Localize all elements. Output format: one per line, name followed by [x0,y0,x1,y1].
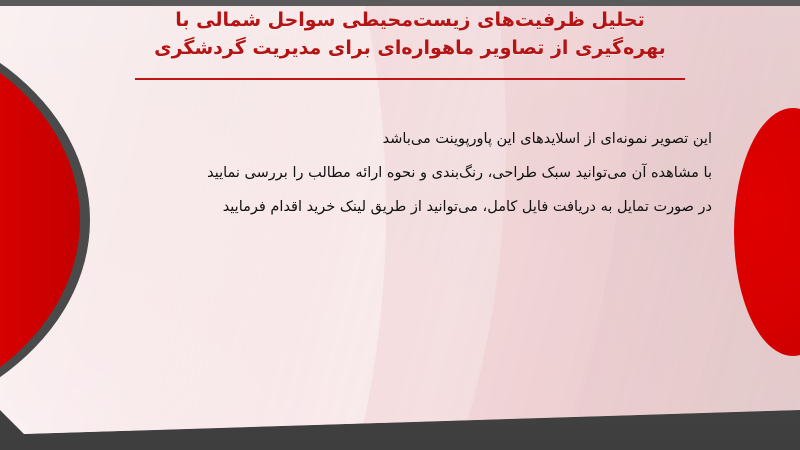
body-line-2: با مشاهده آن می‌توانید سبک طراحی، رنگ‌بن… [82,156,712,190]
slide-title: تحلیل ظرفیت‌های زیست‌محیطی سواحل شمالی ب… [110,6,710,62]
background-arc [0,0,766,450]
title-line-2: بهره‌گیری از تصاویر ماهواره‌ای برای مدیر… [110,34,710,62]
body-line-3: در صورت تمایل به دریافت فایل کامل، می‌تو… [82,190,712,224]
background-arc [0,0,626,450]
title-line-1: تحلیل ظرفیت‌های زیست‌محیطی سواحل شمالی ب… [110,6,710,34]
background-arc [0,0,800,450]
presentation-slide: تحلیل ظرفیت‌های زیست‌محیطی سواحل شمالی ب… [0,0,800,450]
background-arc [0,0,800,450]
background-arc [0,0,800,450]
background-arc [0,0,800,450]
background-arc [0,0,800,450]
slide-body-text: این تصویر نمونه‌ای از اسلایدهای این پاور… [82,122,712,224]
background-arc [0,0,800,450]
body-line-1: این تصویر نمونه‌ای از اسلایدهای این پاور… [82,122,712,156]
title-underline-rule [135,78,685,80]
